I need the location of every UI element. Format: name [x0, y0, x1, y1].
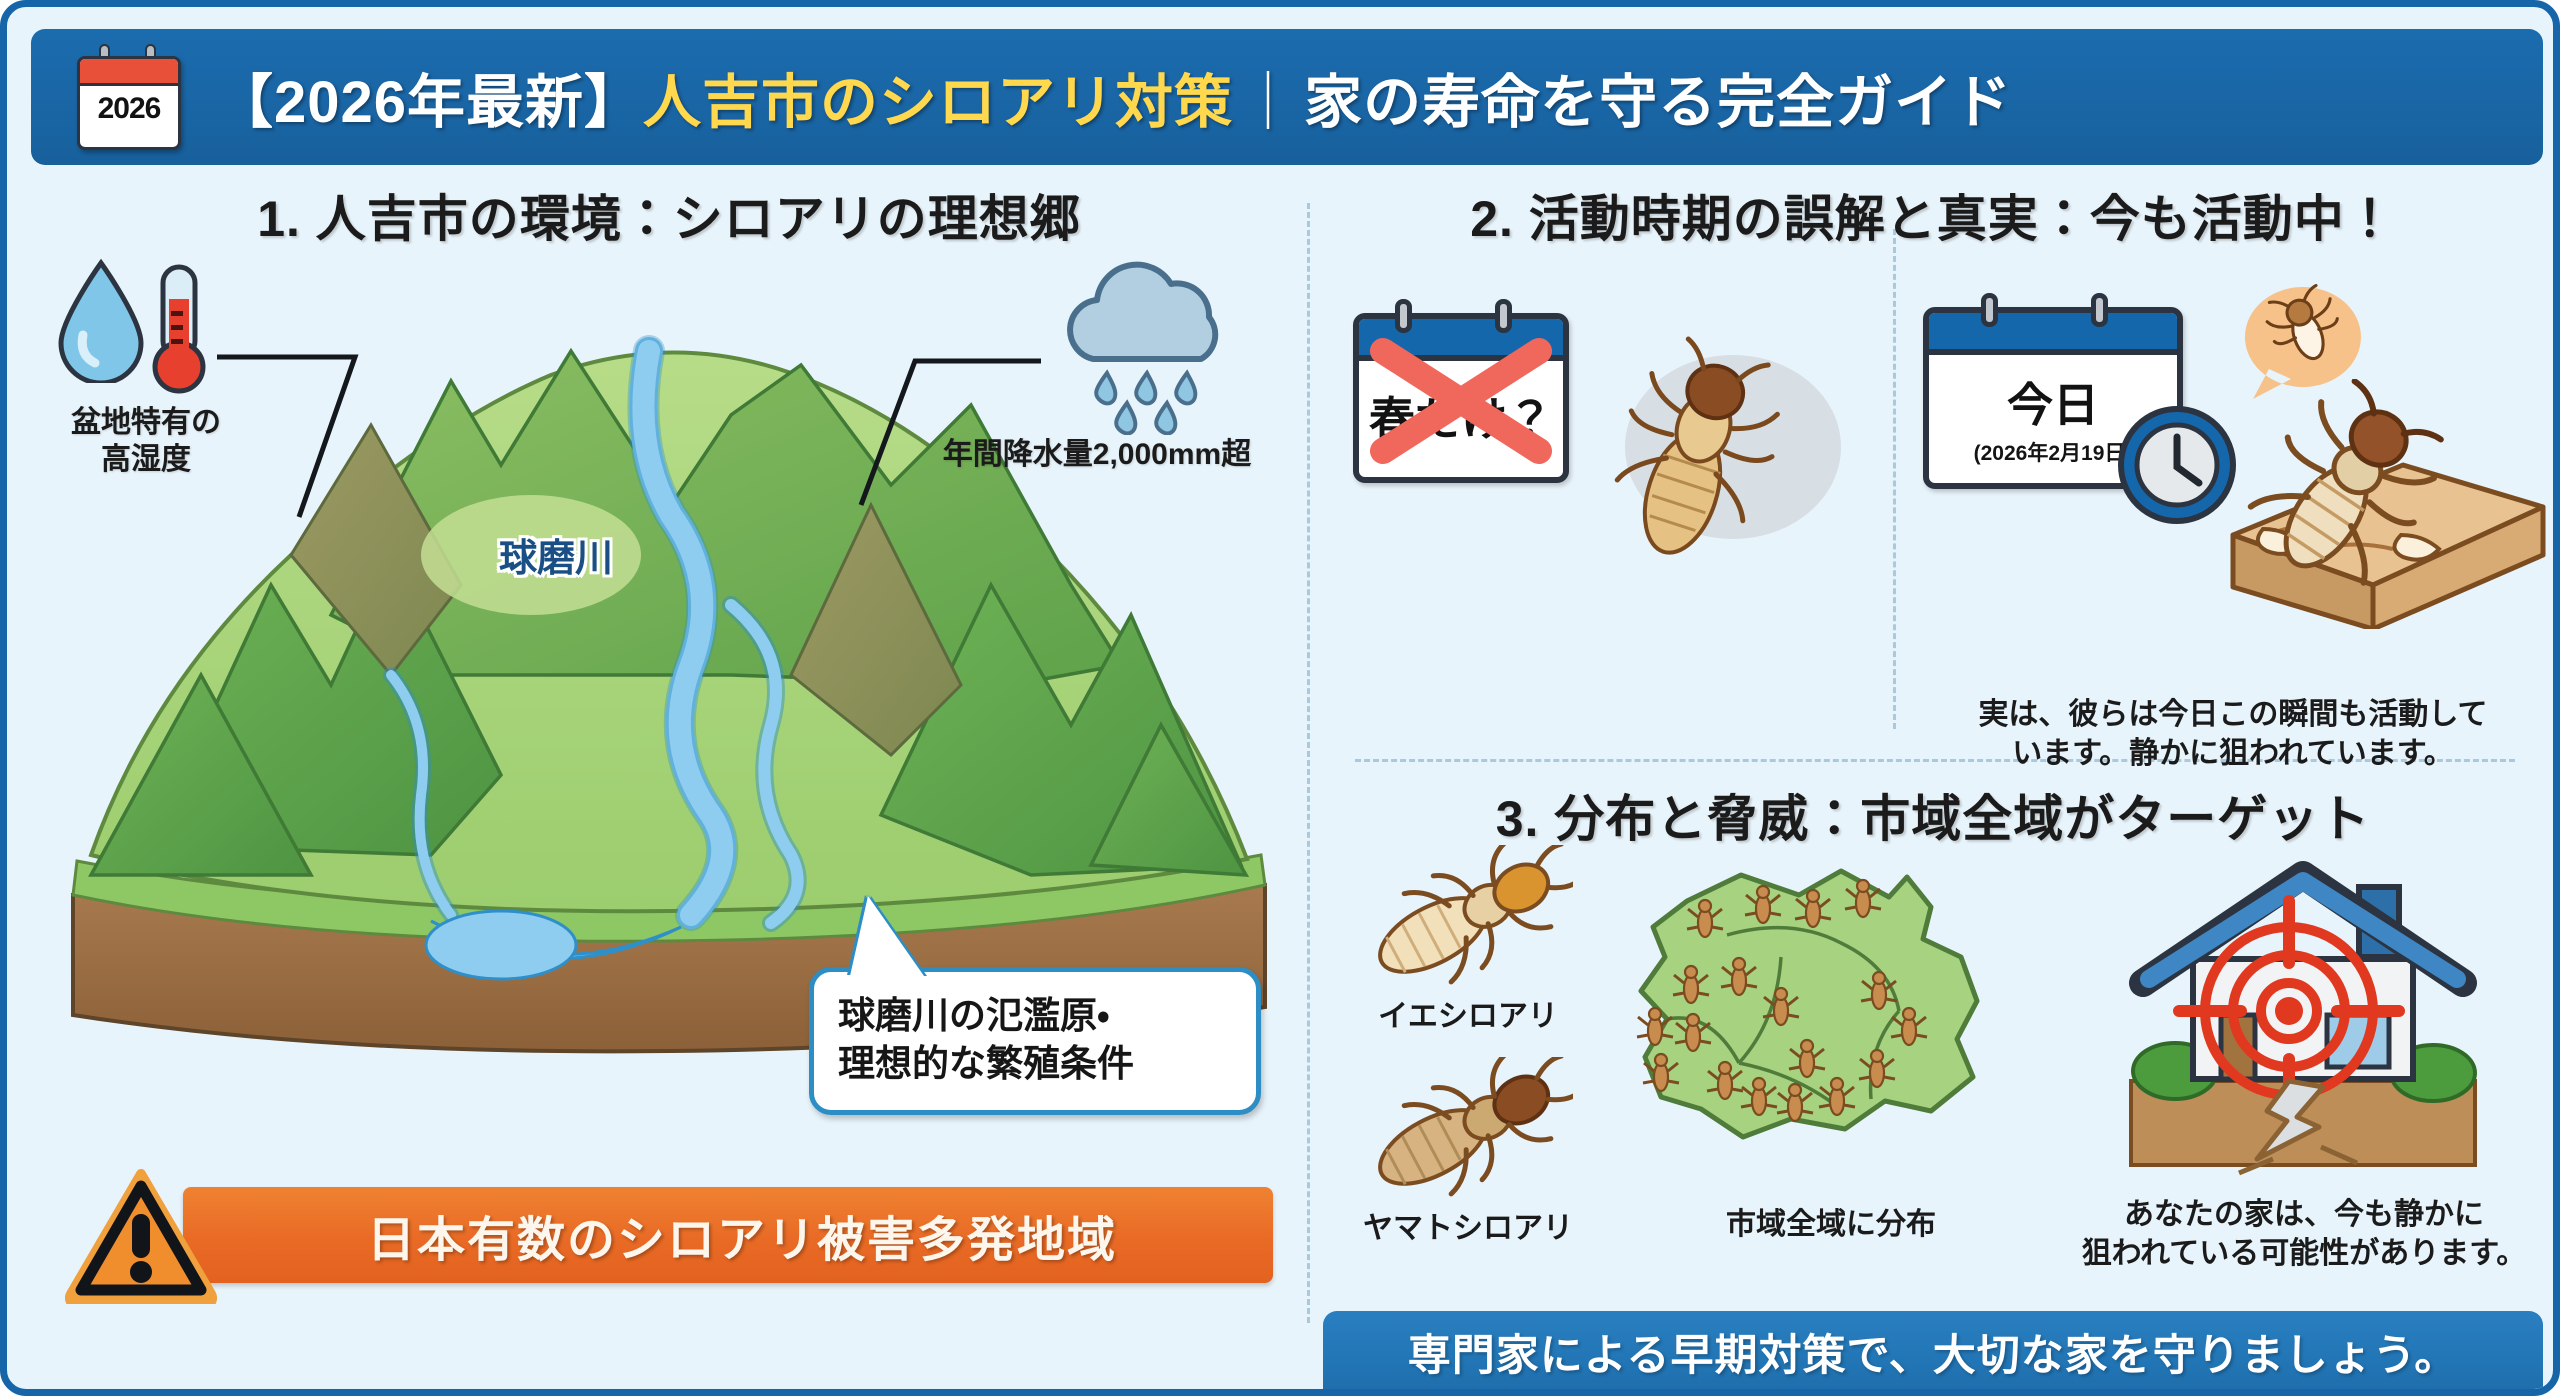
- calendar-band: [1929, 313, 2177, 355]
- termite-2-label: ヤマトシロアリ: [1323, 1209, 1613, 1248]
- column-divider: [1307, 203, 1310, 1323]
- myth-group: 春だけ？: [1343, 299, 1883, 639]
- cta-banner[interactable]: 専門家による早期対策で、大切な家を守りましょう。: [1323, 1311, 2543, 1393]
- left-column: 1. 人吉市の環境：シロアリの理想郷: [31, 179, 1307, 1375]
- section2-note: 実は、彼らは今日この瞬間も活動して います。静かに狙われています。: [1923, 695, 2543, 773]
- house-caption-line1: あなたの家は、今も静かに: [2124, 1198, 2484, 1231]
- wood-block-icon: [2223, 379, 2553, 629]
- calendar-ring-left: [1395, 299, 1412, 333]
- river-label: 球磨川: [499, 527, 613, 582]
- page-title: 【2026年最新】人吉市のシロアリ対策｜家の寿命を守る完全ガイド: [215, 55, 2012, 139]
- warning-banner-row: 日本有数のシロアリ被害多発地域: [65, 1165, 1273, 1305]
- termite-1-label: イエシロアリ: [1323, 997, 1613, 1036]
- floodplain-speech-bubble: 球磨川の氾濫原・ 理想的な繁殖条件: [809, 967, 1261, 1115]
- title-separator: ｜: [1233, 70, 1304, 135]
- house-caption-line2: 狙われている可能性があります。: [2082, 1237, 2527, 1270]
- termite-icon: [1343, 1057, 1573, 1207]
- terrain-illustration: 盆地特有の 高湿度 年間降水量2,000mm超 球磨川: [31, 255, 1307, 1135]
- termite-icon: [1343, 845, 1573, 995]
- humidity-label-line1: 盆地特有の: [71, 406, 221, 439]
- right-column: 2. 活動時期の誤解と真実：今も活動中！ 春だけ？: [1323, 179, 2543, 1375]
- warning-banner: 日本有数のシロアリ被害多発地域: [183, 1187, 1273, 1283]
- section2-note-line2: います。静かに狙われています。: [2012, 737, 2454, 770]
- cta-text: 専門家による早期対策で、大切な家を守りましょう。: [1408, 1321, 2458, 1383]
- section3-content: 3. 分布と脅威：市域全域がターゲット: [1323, 779, 2543, 1299]
- map-caption: 市域全域に分布: [1611, 1205, 2051, 1244]
- section1-title: 1. 人吉市の環境：シロアリの理想郷: [31, 179, 1307, 251]
- calendar-icon: 2026: [77, 44, 181, 150]
- section2-content: 春だけ？: [1323, 243, 2543, 763]
- house-target-icon: [2103, 851, 2503, 1187]
- calendar-body: 2026: [77, 56, 181, 150]
- section2-title: 2. 活動時期の誤解と真実：今も活動中！: [1323, 179, 2543, 251]
- calendar-myth-icon: 春だけ？: [1353, 299, 1569, 483]
- calendar-ring-right: [1495, 299, 1512, 333]
- today-group: 今日 (2026年2月19日): [1923, 283, 2543, 703]
- warning-banner-text: 日本有数のシロアリ被害多発地域: [367, 1200, 1117, 1270]
- map-icon: [1631, 861, 2031, 1201]
- title-highlight: 人吉市のシロアリ対策: [643, 70, 1233, 135]
- red-x-icon: [1361, 335, 1561, 467]
- section2-note-line1: 実は、彼らは今日この瞬間も活動して: [1978, 698, 2487, 731]
- header-banner: 2026 【2026年最新】人吉市のシロアリ対策｜家の寿命を守る完全ガイド: [31, 29, 2543, 165]
- bubble-line-2: 理想的な繁殖条件: [838, 1040, 1232, 1088]
- clock-icon: [2115, 403, 2239, 527]
- rain-cloud-icon: [1047, 255, 1247, 440]
- humidity-label-line2: 高湿度: [101, 443, 191, 476]
- calendar-ring-left: [1981, 293, 1998, 327]
- section3-row: イエシロアリ ヤマトシロアリ: [1323, 845, 2543, 1275]
- section3-title: 3. 分布と脅威：市域全域がターゲット: [1323, 779, 2543, 851]
- calendar-year-label: 2026: [80, 92, 178, 126]
- speech-bubble-tail: [850, 896, 924, 976]
- calendar-ring-right: [2091, 293, 2108, 327]
- warning-triangle-icon: [65, 1166, 217, 1304]
- infographic-poster: 2026 【2026年最新】人吉市のシロアリ対策｜家の寿命を守る完全ガイド 1.…: [0, 0, 2560, 1396]
- thermometer-icon: [143, 263, 215, 402]
- water-drop-icon: [53, 257, 149, 388]
- title-suffix: 家の寿命を守る完全ガイド: [1304, 70, 2012, 135]
- bubble-line-1: 球磨川の氾濫原・: [838, 992, 1232, 1040]
- termite-icon: [1593, 329, 1873, 559]
- house-caption: あなたの家は、今も静かに 狙われている可能性があります。: [2065, 1195, 2543, 1273]
- title-prefix: 【2026年最新】: [215, 70, 643, 135]
- rain-label: 年間降水量2,000mm超: [887, 437, 1307, 474]
- humidity-label: 盆地特有の 高湿度: [41, 405, 251, 478]
- calendar-band: [80, 59, 178, 86]
